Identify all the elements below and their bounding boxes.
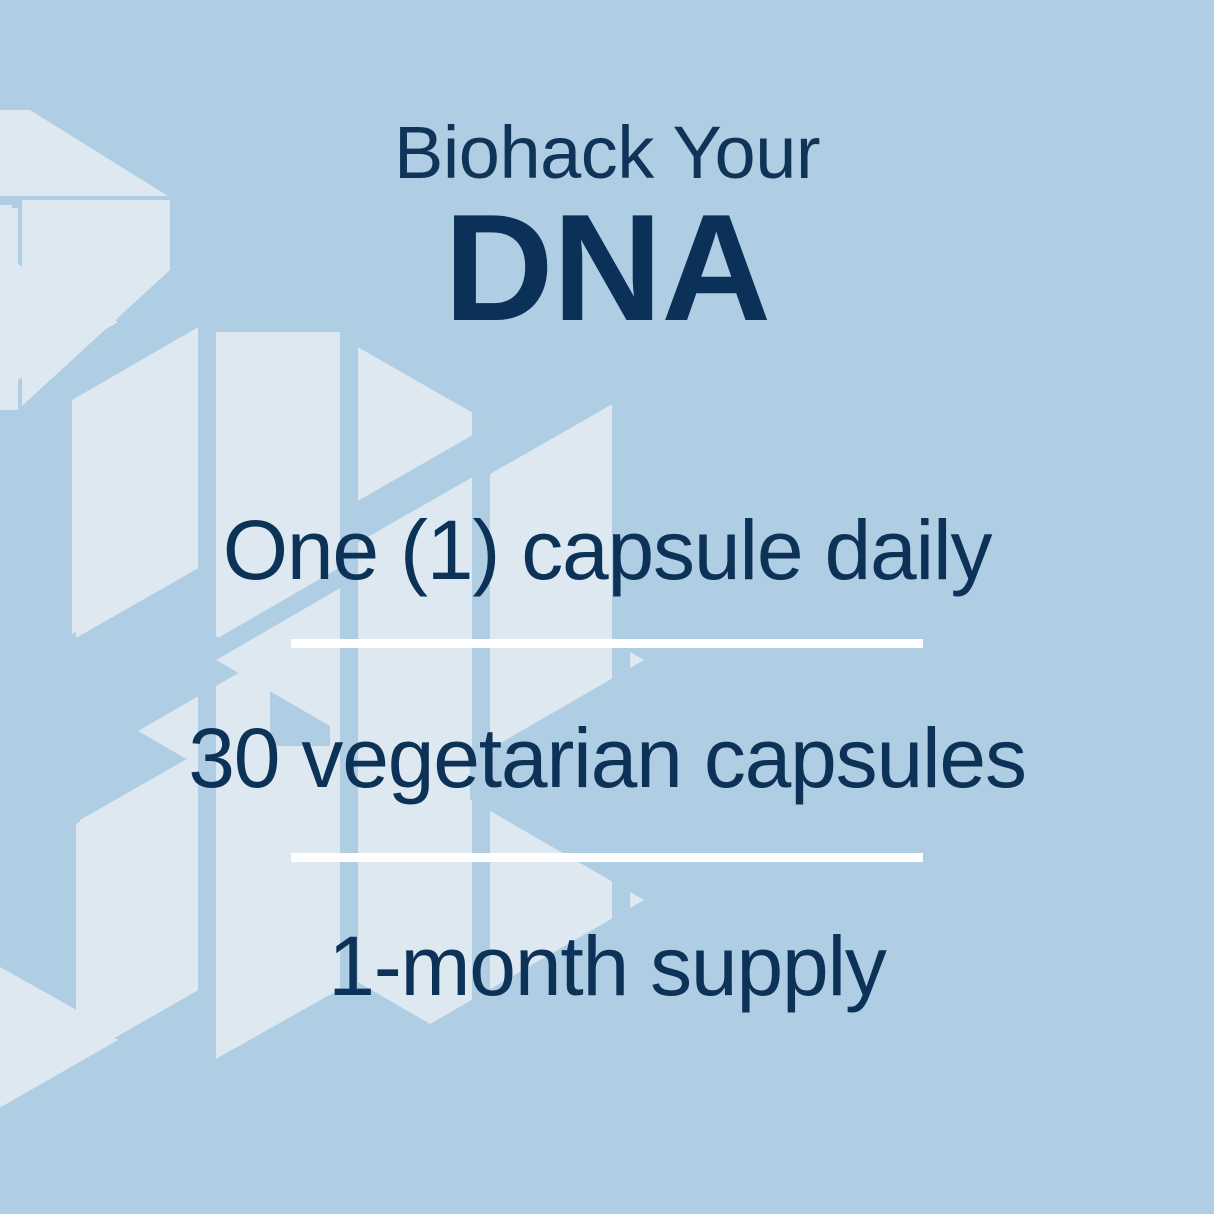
- fact-dosage: One (1) capsule daily: [0, 508, 1214, 592]
- headline-main: DNA: [0, 194, 1214, 343]
- poster-content: Biohack Your DNA One (1) capsule daily 3…: [0, 0, 1214, 1214]
- product-info-poster: Biohack Your DNA One (1) capsule daily 3…: [0, 0, 1214, 1214]
- divider-1: [291, 639, 923, 648]
- divider-2: [291, 853, 923, 862]
- headline-kicker: Biohack Your: [0, 118, 1214, 188]
- fact-count: 30 vegetarian capsules: [0, 716, 1214, 800]
- facts-list: One (1) capsule daily 30 vegetarian caps…: [0, 498, 1214, 1008]
- fact-supply: 1-month supply: [0, 924, 1214, 1008]
- headline-block: Biohack Your DNA: [0, 118, 1214, 343]
